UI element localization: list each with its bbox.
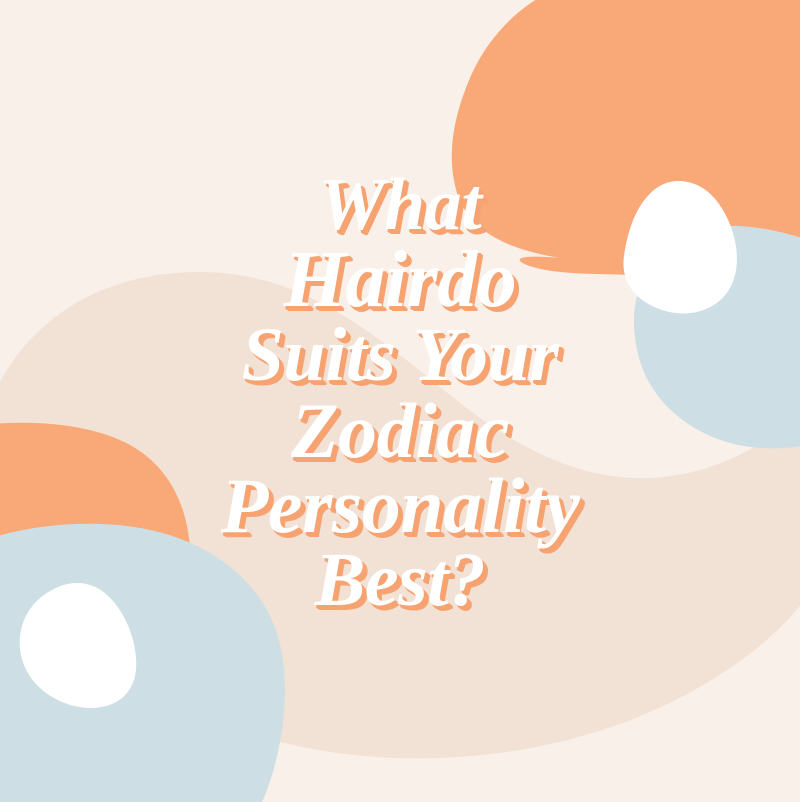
pebble-bottom-left-layer xyxy=(0,0,800,802)
poster-canvas: What Hairdo Suits Your Zodiac Personalit… xyxy=(0,0,800,802)
pebble-bottom-left-shape xyxy=(20,583,137,708)
